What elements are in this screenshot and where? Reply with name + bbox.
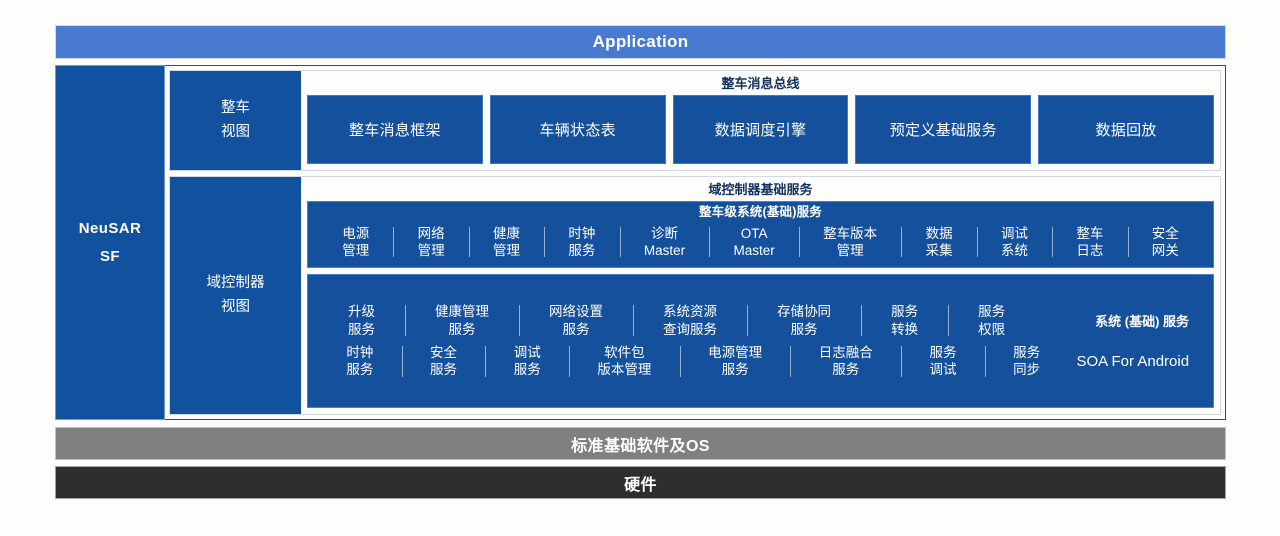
vehicle-level-system-services-row: 电源管理 网络管理 健康管理 时钟服务 诊断Master OTAMaster 整… xyxy=(308,224,1213,268)
views-container: 整车 视图 整车消息总线 整车消息框架 车辆状态表 数据调度引擎 预定义基础服务… xyxy=(165,65,1226,420)
service-line1: 软件包 xyxy=(604,344,645,361)
service-line2: 管理 xyxy=(493,242,520,259)
service-line1: 电源 xyxy=(342,225,369,242)
bus-box-label: 车辆状态表 xyxy=(539,119,616,140)
bus-box-label: 预定义基础服务 xyxy=(890,119,997,140)
service-line2: 服务 xyxy=(791,321,818,338)
bus-box[interactable]: 车辆状态表 xyxy=(490,95,666,164)
service-item[interactable]: 系统资源查询服务 xyxy=(633,302,747,339)
service-line1: 服务 xyxy=(891,303,918,320)
vehicle-level-system-services-block: 整车级系统(基础)服务 电源管理 网络管理 健康管理 时钟服务 诊断Master… xyxy=(307,201,1214,268)
service-item[interactable]: 网络管理 xyxy=(393,224,468,261)
service-item[interactable]: 安全网关 xyxy=(1128,224,1203,261)
service-item[interactable]: 服务同步 xyxy=(985,343,1069,380)
standard-basic-software-os-label: 标准基础软件及OS xyxy=(571,432,710,456)
service-line1: 时钟 xyxy=(568,225,595,242)
bus-box-label: 数据回放 xyxy=(1095,119,1156,140)
service-line2: 同步 xyxy=(1013,361,1040,378)
hardware-bar: 硬件 xyxy=(55,466,1226,499)
service-line1: 服务 xyxy=(929,344,956,361)
service-line2: 服务 xyxy=(563,321,590,338)
service-line1: 服务 xyxy=(1013,344,1040,361)
service-item[interactable]: 数据采集 xyxy=(901,224,976,261)
service-line1: 日志融合 xyxy=(819,344,873,361)
service-line1: 数据 xyxy=(926,225,953,242)
service-line2: 查询服务 xyxy=(663,321,717,338)
service-item[interactable]: 服务转换 xyxy=(861,302,948,339)
service-item[interactable]: 服务权限 xyxy=(948,302,1035,339)
vehicle-level-system-services-heading: 整车级系统(基础)服务 xyxy=(308,202,1213,224)
service-line1: 网络设置 xyxy=(549,303,603,320)
domain-view-label: 域控制器 视图 xyxy=(170,177,301,414)
application-banner-label: Application xyxy=(593,32,689,52)
service-line1: 存储协同 xyxy=(777,303,831,320)
service-line2: 版本管理 xyxy=(597,361,651,378)
vehicle-view-label-line1: 整车 xyxy=(221,97,250,121)
service-line1: 网络 xyxy=(418,225,445,242)
service-line1: 整车 xyxy=(1076,225,1103,242)
service-line1: 升级 xyxy=(348,303,375,320)
service-line2: 管理 xyxy=(418,242,445,259)
standard-basic-software-os-bar: 标准基础软件及OS xyxy=(55,427,1226,460)
vehicle-view-label: 整车 视图 xyxy=(170,71,301,170)
service-item[interactable]: 电源管理服务 xyxy=(680,343,791,380)
service-line2: 日志 xyxy=(1076,242,1103,259)
service-line2: Master xyxy=(644,242,685,259)
service-item[interactable]: OTAMaster xyxy=(709,224,799,261)
service-line2: 服务 xyxy=(449,321,476,338)
service-line1: 调试 xyxy=(1001,225,1028,242)
service-line1: 安全 xyxy=(1152,225,1179,242)
service-line2: 采集 xyxy=(926,242,953,259)
service-line2: 服务 xyxy=(568,242,595,259)
vehicle-bus-box-row: 整车消息框架 车辆状态表 数据调度引擎 预定义基础服务 数据回放 xyxy=(307,95,1214,164)
bus-box[interactable]: 数据调度引擎 xyxy=(673,95,849,164)
architecture-diagram: Application NeuSAR SF 整车 视图 整车消息总线 整车消息框… xyxy=(0,0,1280,536)
service-line2: 网关 xyxy=(1152,242,1179,259)
neusar-sf-column: NeuSAR SF xyxy=(55,65,165,420)
vehicle-view-section: 整车 视图 整车消息总线 整车消息框架 车辆状态表 数据调度引擎 预定义基础服务… xyxy=(169,70,1221,171)
domain-view-body: 域控制器基础服务 整车级系统(基础)服务 电源管理 网络管理 健康管理 时钟服务… xyxy=(301,177,1220,414)
vehicle-view-body: 整车消息总线 整车消息框架 车辆状态表 数据调度引擎 预定义基础服务 数据回放 xyxy=(301,71,1220,170)
service-line2: 服务 xyxy=(514,361,541,378)
service-item[interactable]: 整车日志 xyxy=(1052,224,1127,261)
service-line2: 服务 xyxy=(348,321,375,338)
service-item[interactable]: 健康管理服务 xyxy=(405,302,519,339)
service-item[interactable]: 时钟服务 xyxy=(544,224,619,261)
service-line1: 系统资源 xyxy=(663,303,717,320)
service-item[interactable]: 时钟服务 xyxy=(318,343,402,380)
service-line2: 调试 xyxy=(929,361,956,378)
application-banner: Application xyxy=(55,25,1226,59)
service-item[interactable]: 日志融合服务 xyxy=(790,343,901,380)
bus-box[interactable]: 整车消息框架 xyxy=(307,95,483,164)
domain-view-label-line2: 视图 xyxy=(221,296,250,320)
service-line1: 调试 xyxy=(514,344,541,361)
service-line1: 电源管理 xyxy=(708,344,762,361)
service-line2: 服务 xyxy=(430,361,457,378)
service-item[interactable]: 网络设置服务 xyxy=(519,302,633,339)
system-basic-services-block: 升级服务 健康管理服务 网络设置服务 系统资源查询服务 存储协同服务 服务转换 … xyxy=(307,274,1214,408)
service-line2: 系统 xyxy=(1001,242,1028,259)
service-line1: 服务 xyxy=(978,303,1005,320)
service-line1: 健康管理 xyxy=(435,303,489,320)
service-line1: OTA xyxy=(741,225,768,242)
system-basic-services-corner-label: 系统 (基础) 服务 xyxy=(1087,302,1203,339)
service-item[interactable]: 诊断Master xyxy=(620,224,710,261)
service-item[interactable]: 升级服务 xyxy=(318,302,405,339)
system-basic-services-row-1: 升级服务 健康管理服务 网络设置服务 系统资源查询服务 存储协同服务 服务转换 … xyxy=(308,300,1213,341)
domain-basic-services-title: 域控制器基础服务 xyxy=(307,180,1214,201)
service-line1: 安全 xyxy=(430,344,457,361)
service-line1: 整车版本 xyxy=(823,225,877,242)
service-item[interactable]: 服务调试 xyxy=(901,343,985,380)
service-item[interactable]: 存储协同服务 xyxy=(747,302,861,339)
neusar-main-frame: NeuSAR SF 整车 视图 整车消息总线 整车消息框架 车辆状态表 数据调度… xyxy=(55,65,1226,420)
neusar-label-line1: NeuSAR xyxy=(79,215,141,243)
service-item[interactable]: 整车版本管理 xyxy=(799,224,901,261)
domain-controller-view-section: 域控制器 视图 域控制器基础服务 整车级系统(基础)服务 电源管理 网络管理 健… xyxy=(169,176,1221,415)
service-item[interactable]: 健康管理 xyxy=(469,224,544,261)
bus-box[interactable]: 数据回放 xyxy=(1038,95,1214,164)
vehicle-message-bus-title: 整车消息总线 xyxy=(307,74,1214,95)
bus-box[interactable]: 预定义基础服务 xyxy=(855,95,1031,164)
service-item[interactable]: 安全服务 xyxy=(402,343,486,380)
bus-box-label: 整车消息框架 xyxy=(349,119,441,140)
service-item[interactable]: 调试服务 xyxy=(485,343,569,380)
system-basic-services-row-2: 时钟服务 安全服务 调试服务 软件包版本管理 电源管理服务 日志融合服务 服务调… xyxy=(308,341,1213,382)
service-item[interactable]: 软件包版本管理 xyxy=(569,343,680,380)
service-item[interactable]: 调试系统 xyxy=(977,224,1052,261)
hardware-label: 硬件 xyxy=(624,471,657,495)
service-line2: 服务 xyxy=(722,361,749,378)
service-line1: 诊断 xyxy=(651,225,678,242)
vehicle-view-label-line2: 视图 xyxy=(221,121,250,145)
service-line2: 服务 xyxy=(832,361,859,378)
service-line2: 管理 xyxy=(837,242,864,259)
service-line2: 权限 xyxy=(978,321,1005,338)
service-line2: Master xyxy=(734,242,775,259)
neusar-label-line2: SF xyxy=(100,243,120,271)
service-line1: 健康 xyxy=(493,225,520,242)
domain-view-label-line1: 域控制器 xyxy=(207,272,265,296)
soa-for-android-label: SOA For Android xyxy=(1069,343,1204,380)
service-line1: 时钟 xyxy=(346,344,373,361)
row-spacer xyxy=(1035,302,1087,339)
service-line2: 转换 xyxy=(891,321,918,338)
service-line2: 服务 xyxy=(346,361,373,378)
bus-box-label: 数据调度引擎 xyxy=(715,119,807,140)
service-line2: 管理 xyxy=(342,242,369,259)
service-item[interactable]: 电源管理 xyxy=(318,224,393,261)
